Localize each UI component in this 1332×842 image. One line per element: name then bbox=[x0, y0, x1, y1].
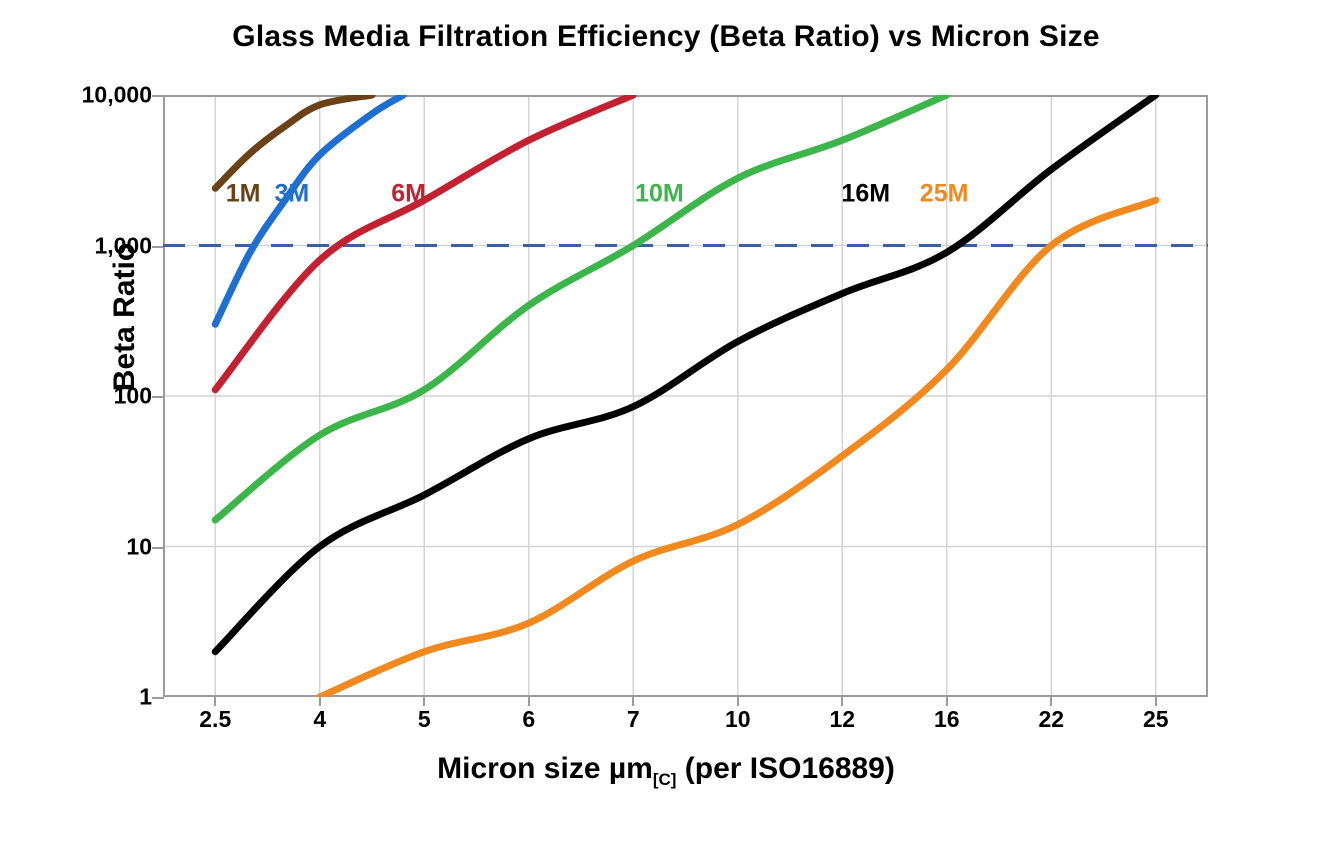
x-tick-label: 22 bbox=[1038, 706, 1064, 733]
chart-title: Glass Media Filtration Efficiency (Beta … bbox=[0, 20, 1332, 54]
x-axis-title-main: Micron size µm bbox=[437, 752, 653, 785]
x-tick-label: 2.5 bbox=[199, 706, 231, 733]
x-tick-label: 12 bbox=[829, 706, 855, 733]
x-tick-mark bbox=[1155, 696, 1157, 706]
y-axis-title: Beta Ratio bbox=[108, 167, 142, 467]
x-tick-mark bbox=[841, 696, 843, 706]
x-tick-mark bbox=[632, 696, 634, 706]
series-label-10m: 10M bbox=[635, 179, 684, 208]
y-tick-label: 10,000 bbox=[82, 82, 152, 109]
plot-area: 1M3M6M10M16M25M bbox=[163, 95, 1208, 697]
x-tick-mark bbox=[423, 696, 425, 706]
x-tick-label: 4 bbox=[313, 706, 326, 733]
x-tick-label: 7 bbox=[627, 706, 640, 733]
series-label-25m: 25M bbox=[920, 179, 969, 208]
x-tick-mark bbox=[214, 696, 216, 706]
series-line-16m bbox=[215, 95, 1156, 652]
series-label-6m: 6M bbox=[391, 179, 426, 208]
x-tick-mark bbox=[946, 696, 948, 706]
series-label-16m: 16M bbox=[841, 179, 890, 208]
y-tick-label: 10 bbox=[126, 533, 152, 560]
x-tick-label: 5 bbox=[418, 706, 431, 733]
x-axis-title-suffix: (per ISO16889) bbox=[676, 752, 894, 785]
y-tick-label: 1 bbox=[139, 684, 152, 711]
series-label-3m: 3M bbox=[275, 179, 310, 208]
x-axis-title-subscript: [C] bbox=[653, 770, 677, 789]
x-axis-title: Micron size µm[C] (per ISO16889) bbox=[0, 752, 1332, 790]
series-line-1m bbox=[215, 95, 372, 188]
series-line-3m bbox=[215, 95, 403, 324]
y-tick-mark bbox=[152, 697, 164, 699]
chart-svg bbox=[163, 95, 1208, 697]
x-tick-label: 25 bbox=[1143, 706, 1169, 733]
series-label-1m: 1M bbox=[226, 179, 261, 208]
x-tick-mark bbox=[319, 696, 321, 706]
x-tick-label: 10 bbox=[725, 706, 751, 733]
x-tick-mark bbox=[737, 696, 739, 706]
chart-page: Glass Media Filtration Efficiency (Beta … bbox=[0, 0, 1332, 842]
x-tick-label: 16 bbox=[934, 706, 960, 733]
x-tick-mark bbox=[528, 696, 530, 706]
x-axis-tick-labels: 2.545671012162225 bbox=[163, 706, 1208, 746]
x-tick-label: 6 bbox=[522, 706, 535, 733]
x-tick-mark bbox=[1050, 696, 1052, 706]
